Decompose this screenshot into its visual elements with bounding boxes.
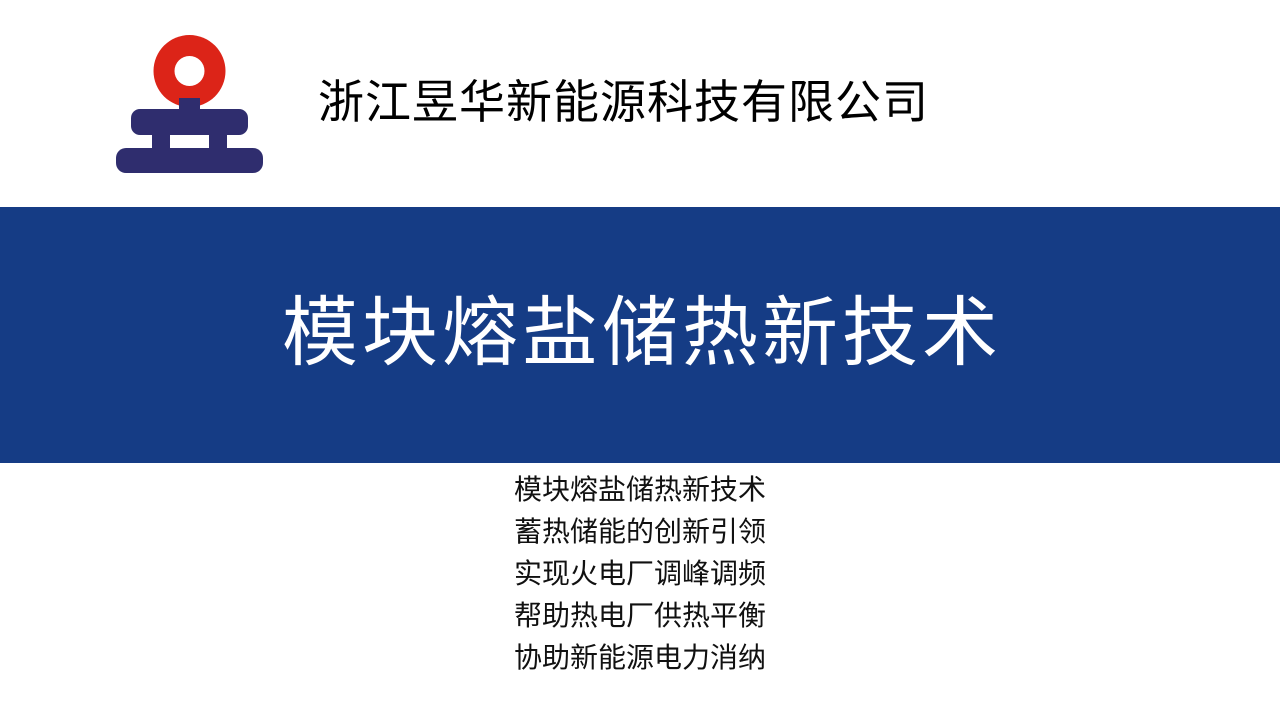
- tagline-line: 模块熔盐储热新技术: [0, 470, 1280, 512]
- tagline-line: 蓄热储能的创新引领: [0, 512, 1280, 554]
- presentation-slide: 浙江昱华新能源科技有限公司 模块熔盐储热新技术 模块熔盐储热新技术 蓄热储能的创…: [0, 0, 1280, 720]
- company-logo-icon: [112, 26, 267, 174]
- company-name: 浙江昱华新能源科技有限公司: [318, 72, 1018, 134]
- tagline-list: 模块熔盐储热新技术 蓄热储能的创新引领 实现火电厂调峰调频 帮助热电厂供热平衡 …: [0, 470, 1280, 680]
- title-banner: 模块熔盐储热新技术: [0, 207, 1280, 463]
- logo-ring-shape: [154, 35, 226, 107]
- tagline-line: 实现火电厂调峰调频: [0, 554, 1280, 596]
- page-title: 模块熔盐储热新技术: [278, 293, 1002, 377]
- logo-base-shape: [116, 98, 263, 173]
- tagline-line: 帮助热电厂供热平衡: [0, 596, 1280, 638]
- tagline-line: 协助新能源电力消纳: [0, 638, 1280, 680]
- slide-header: 浙江昱华新能源科技有限公司: [0, 0, 1280, 207]
